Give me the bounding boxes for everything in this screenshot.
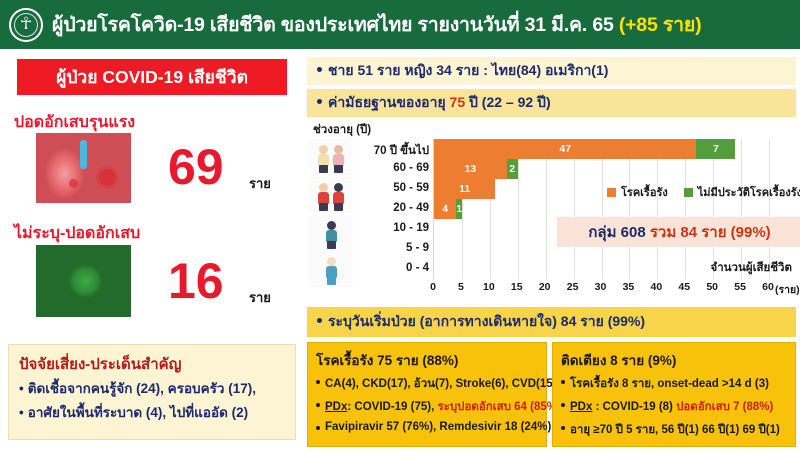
chart-gridline: [769, 139, 770, 279]
chart-category-label: 10 - 19: [393, 222, 429, 234]
risk-factors-box: ปัจจัยเสี่ยง-ประเด็นสำคัญ •ติดเชื้อจากคน…: [8, 344, 296, 440]
adults-icon: [309, 177, 353, 213]
chart-bar-segment-no-history: 7: [696, 139, 735, 159]
chart-x-tick-label: 15: [511, 281, 523, 293]
chronic-disease-box: โรคเรื้อรัง 75 ราย (88%) CA(4), CKD(17),…: [307, 342, 547, 447]
bedridden-title: ติดเตียง 8 ราย (9%): [561, 349, 787, 371]
chart-bar-value-label: 2: [509, 164, 515, 175]
page-title-highlight: (+85 ราย): [619, 14, 702, 36]
unspecified-pneumonia-unit: ราย: [249, 287, 271, 308]
unspecified-pneumonia-label: ไม่ระบุ-ปอดอักเสบ: [14, 221, 140, 246]
bedridden-item: โรคเรื้อรัง 8 ราย, onset-dead >14 d (3): [561, 375, 787, 393]
risk-factors-title: ปัจจัยเสี่ยง-ประเด็นสำคัญ: [19, 352, 181, 376]
chart-bar-value-label: 13: [464, 164, 476, 175]
bedridden-item-highlight: ปอดอักเสบ 7 (88%): [676, 401, 773, 413]
chart-x-axis-caption: จำนวนผู้เสียชีวิต: [710, 259, 792, 277]
chronic-disease-item-text: Favipiravir 57 (76%), Remdesivir 18 (24%…: [325, 421, 551, 433]
chart-bar-segment-chronic: 47: [434, 139, 696, 159]
severe-pneumonia-label: ปอดอักเสบรุนแรง: [14, 110, 135, 135]
median-age-prefix: ค่ามัธยฐานของอายุ: [328, 94, 450, 110]
chronic-disease-item-text: CA(4), CKD(17), อ้วน(7), Stroke(6), CVD(…: [325, 375, 556, 393]
median-age-suffix: ปี (22 – 92 ปี): [465, 94, 550, 110]
moph-caduceus-logo-icon: ☥: [9, 8, 43, 42]
gender-nationality-value: ชาย 51 ราย หญิง 34 ราย : ไทย(84) อเมริกา…: [328, 62, 608, 78]
elderly-woman-figure: [332, 145, 345, 173]
bullet-icon: [316, 403, 320, 407]
baby-figure: [325, 257, 338, 285]
bedridden-item-plain: อายุ ≥70 ปี 5 ราย, 56 ปี(1) 66 ปี(1) 69 …: [570, 424, 780, 436]
severe-pneumonia-count: 69: [168, 142, 224, 192]
page-title: ผู้ป่วยโรคโควิด-19 เสียชีวิต ของประเทศไท…: [52, 9, 701, 40]
onset-date-text: ระบุวันเริ่มป่วย (อาการทางเดินหายใจ) 84 …: [317, 311, 645, 333]
legend-swatch-chronic-icon: [607, 188, 616, 197]
coronavirus-illustration-icon: [36, 245, 131, 317]
covid-death-banner: ผู้ป่วย COVID-19 เสียชีวิต: [17, 59, 287, 95]
chronic-disease-item: Favipiravir 57 (76%), Remdesivir 18 (24%…: [316, 421, 538, 433]
chart-bar-segment-no-history: 1: [456, 199, 462, 219]
onset-date-strip: ระบุวันเริ่มป่วย (อาการทางเดินหายใจ) 84 …: [307, 307, 796, 337]
onset-date-value: ระบุวันเริ่มป่วย (อาการทางเดินหายใจ) 84 …: [328, 313, 645, 329]
chronic-disease-item-text: PDx: COVID-19 (75), ระบุปอดอักเสบ 64 (85…: [325, 398, 561, 416]
chart-category-label: 70 ปี ขึ้นไป: [374, 142, 429, 160]
bullet-icon: [561, 403, 565, 407]
chart-x-tick-label: 45: [678, 281, 690, 293]
chart-bar-segment-chronic: 13: [434, 159, 507, 179]
legend-swatch-no-history-icon: [684, 188, 693, 197]
chart-x-tick-label: 25: [567, 281, 579, 293]
bullet-icon: [317, 318, 322, 323]
bullet-icon: [317, 99, 322, 104]
age-group-chart: ช่วงอายุ (ปี) 70 ปี ขึ้นไป60 -: [307, 119, 796, 304]
group-608-callout: กลุ่ม 608 รวม 84 ราย (99%): [557, 217, 800, 247]
risk-factors-item: •ติดเชื้อจากคนรู้จัก (24), ครอบครัว (17)…: [19, 377, 256, 399]
legend-label-chronic: โรคเรื้อรัง: [621, 183, 668, 201]
logo-container: ☥: [0, 0, 52, 49]
bedridden-box: ติดเตียง 8 ราย (9%) โรคเรื้อรัง 8 ราย, o…: [552, 342, 796, 447]
chart-bar-row: 132: [434, 159, 769, 179]
chronic-disease-items: CA(4), CKD(17), อ้วน(7), Stroke(6), CVD(…: [316, 375, 538, 433]
chart-x-tick-label: 50: [706, 281, 718, 293]
bullet-icon: [316, 426, 320, 430]
chart-x-tick-label: 30: [595, 281, 607, 293]
bedridden-item-underlined: PDx: [570, 401, 592, 413]
caduceus-glyph: ☥: [20, 16, 33, 33]
chart-x-axis-ticks: 051015202530354045505560: [433, 281, 768, 297]
group-608-callout-text: กลุ่ม 608 รวม 84 ราย (99%): [588, 220, 770, 244]
elderly-couple-icon: [309, 139, 353, 175]
chart-x-tick-label: 60: [762, 281, 774, 293]
chart-bar-segment-no-history: 2: [507, 159, 518, 179]
bedridden-items: โรคเรื้อรัง 8 ราย, onset-dead >14 d (3)P…: [561, 375, 787, 439]
risk-factors-item-text: อาศัยในพื้นที่ระบาด (4), ไปที่แออัด (2): [28, 405, 248, 420]
legend-item-no-history: ไม่มีประวัติโรคเรื้องรัง: [684, 183, 800, 201]
bullet-icon: [317, 67, 322, 72]
legend-label-no-history: ไม่มีประวัติโรคเรื้องรัง: [698, 183, 800, 201]
chart-plot-area: 70 ปี ขึ้นไป60 - 6950 - 5920 - 4910 - 19…: [357, 139, 794, 304]
lungs-illustration-icon: [36, 133, 131, 203]
chart-category-label: 60 - 69: [393, 162, 429, 174]
risk-factors-item: •อาศัยในพื้นที่ระบาด (4), ไปที่แออัด (2): [19, 401, 248, 423]
chart-x-tick-label: 35: [623, 281, 635, 293]
group-608-total: รวม 84 ราย (99%): [650, 224, 771, 241]
bullet-icon: [561, 380, 565, 384]
chronic-disease-item: PDx: COVID-19 (75), ระบุปอดอักเสบ 64 (85…: [316, 398, 538, 416]
legend-item-chronic: โรคเรื้อรัง: [607, 183, 668, 201]
gender-nationality-strip: ชาย 51 ราย หญิง 34 ราย : ไทย(84) อเมริกา…: [307, 57, 796, 85]
page-title-main: ผู้ป่วยโรคโควิด-19 เสียชีวิต ของประเทศไท…: [52, 14, 619, 36]
chronic-disease-item: CA(4), CKD(17), อ้วน(7), Stroke(6), CVD(…: [316, 375, 538, 393]
risk-factors-item-text: ติดเชื้อจากคนรู้จัก (24), ครอบครัว (17),: [28, 381, 256, 396]
age-group-people-icons: [309, 139, 353, 289]
bedridden-item: PDx : COVID-19 (8) ปอดอักเสบ 7 (88%): [561, 398, 787, 416]
child-icon: [309, 215, 353, 251]
chronic-disease-item-underlined: PDx: [325, 401, 347, 413]
bedridden-item: อายุ ≥70 ปี 5 ราย, 56 ปี(1) 66 ปี(1) 69 …: [561, 421, 787, 439]
bedridden-item-plain2: : COVID-19 (8): [592, 401, 676, 413]
bedridden-item-plain: โรคเรื้อรัง 8 ราย, onset-dead >14 d (3): [570, 378, 769, 390]
chronic-disease-item-plain: Favipiravir 57 (76%), Remdesivir 18 (24%…: [325, 421, 551, 433]
chart-bar-value-label: 11: [459, 184, 470, 195]
chart-x-tick-label: 5: [458, 281, 464, 293]
group-608-label: กลุ่ม 608: [588, 224, 650, 241]
bullet-icon: •: [19, 381, 24, 396]
chart-category-label: 50 - 59: [393, 182, 429, 194]
chart-bar-segment-chronic: 4: [434, 199, 456, 219]
chart-x-tick-label: 55: [734, 281, 746, 293]
chart-bar-value-label: 4: [442, 204, 448, 215]
gender-nationality-text: ชาย 51 ราย หญิง 34 ราย : ไทย(84) อเมริกา…: [317, 60, 608, 82]
adult-figure-two: [332, 183, 345, 211]
chronic-disease-title: โรคเรื้อรัง 75 ราย (88%): [316, 349, 538, 371]
chronic-disease-item-plain2: : COVID-19 (75),: [347, 401, 437, 413]
median-age-strip: ค่ามัธยฐานของอายุ 75 ปี (22 – 92 ปี): [307, 89, 796, 117]
chart-x-tick-label: 10: [483, 281, 495, 293]
median-age-text: ค่ามัธยฐานของอายุ 75 ปี (22 – 92 ปี): [317, 92, 551, 114]
chart-bar-value-label: 7: [713, 144, 719, 155]
bullet-icon: •: [19, 405, 24, 420]
bullet-icon: [316, 380, 320, 384]
chart-x-tick-label: 40: [650, 281, 662, 293]
bedridden-item-text: อายุ ≥70 ปี 5 ราย, 56 ปี(1) 66 ปี(1) 69 …: [570, 421, 780, 439]
chart-bar-row: 477: [434, 139, 769, 159]
adult-figure-one: [317, 183, 330, 211]
elderly-man-figure: [317, 145, 330, 173]
chart-bar-value-label: 47: [559, 144, 571, 155]
chart-category-label: 5 - 9: [406, 242, 429, 254]
chart-category-labels: 70 ปี ขึ้นไป60 - 6950 - 5920 - 4910 - 19…: [357, 139, 433, 279]
chart-bar-row: 41: [434, 199, 769, 219]
chart-category-label: 20 - 49: [393, 202, 429, 214]
unspecified-pneumonia-count: 16: [168, 256, 224, 306]
child-figure: [325, 221, 338, 249]
infographic-page: ☥ ผู้ป่วยโรคโควิด-19 เสียชีวิต ของประเทศ…: [0, 0, 800, 453]
bullet-icon: [561, 426, 565, 430]
chart-y-axis-title: ช่วงอายุ (ปี): [313, 121, 371, 139]
chronic-disease-item-highlight: ระบุปอดอักเสบ 64 (85%): [437, 401, 560, 413]
page-header: ☥ ผู้ป่วยโรคโควิด-19 เสียชีวิต ของประเทศ…: [0, 0, 800, 49]
baby-icon: [309, 251, 353, 287]
covid-death-banner-label: ผู้ป่วย COVID-19 เสียชีวิต: [56, 63, 248, 91]
median-age-value: 75: [450, 94, 466, 110]
severe-pneumonia-unit: ราย: [249, 173, 271, 194]
right-panel: ชาย 51 ราย หญิง 34 ราย : ไทย(84) อเมริกา…: [303, 49, 800, 453]
chronic-disease-item-plain: CA(4), CKD(17), อ้วน(7), Stroke(6), CVD(…: [325, 378, 556, 390]
chart-bar-value-label: 1: [456, 204, 462, 215]
left-panel: ผู้ป่วย COVID-19 เสียชีวิต ปอดอักเสบรุนแ…: [0, 49, 303, 453]
chart-x-tick-label: 20: [539, 281, 551, 293]
chart-bar-segment-chronic: 11: [434, 179, 495, 199]
chart-x-tick-label: 0: [430, 281, 436, 293]
chart-legend: โรคเรื้อรัง ไม่มีประวัติโรคเรื้องรัง: [607, 183, 800, 201]
bedridden-item-text: โรคเรื้อรัง 8 ราย, onset-dead >14 d (3): [570, 375, 769, 393]
chart-category-label: 0 - 4: [406, 262, 429, 274]
chart-grid-and-bars: 4771321141: [433, 139, 768, 279]
bedridden-item-text: PDx : COVID-19 (8) ปอดอักเสบ 7 (88%): [570, 398, 773, 416]
chart-x-axis-unit: (ราย): [775, 281, 800, 298]
